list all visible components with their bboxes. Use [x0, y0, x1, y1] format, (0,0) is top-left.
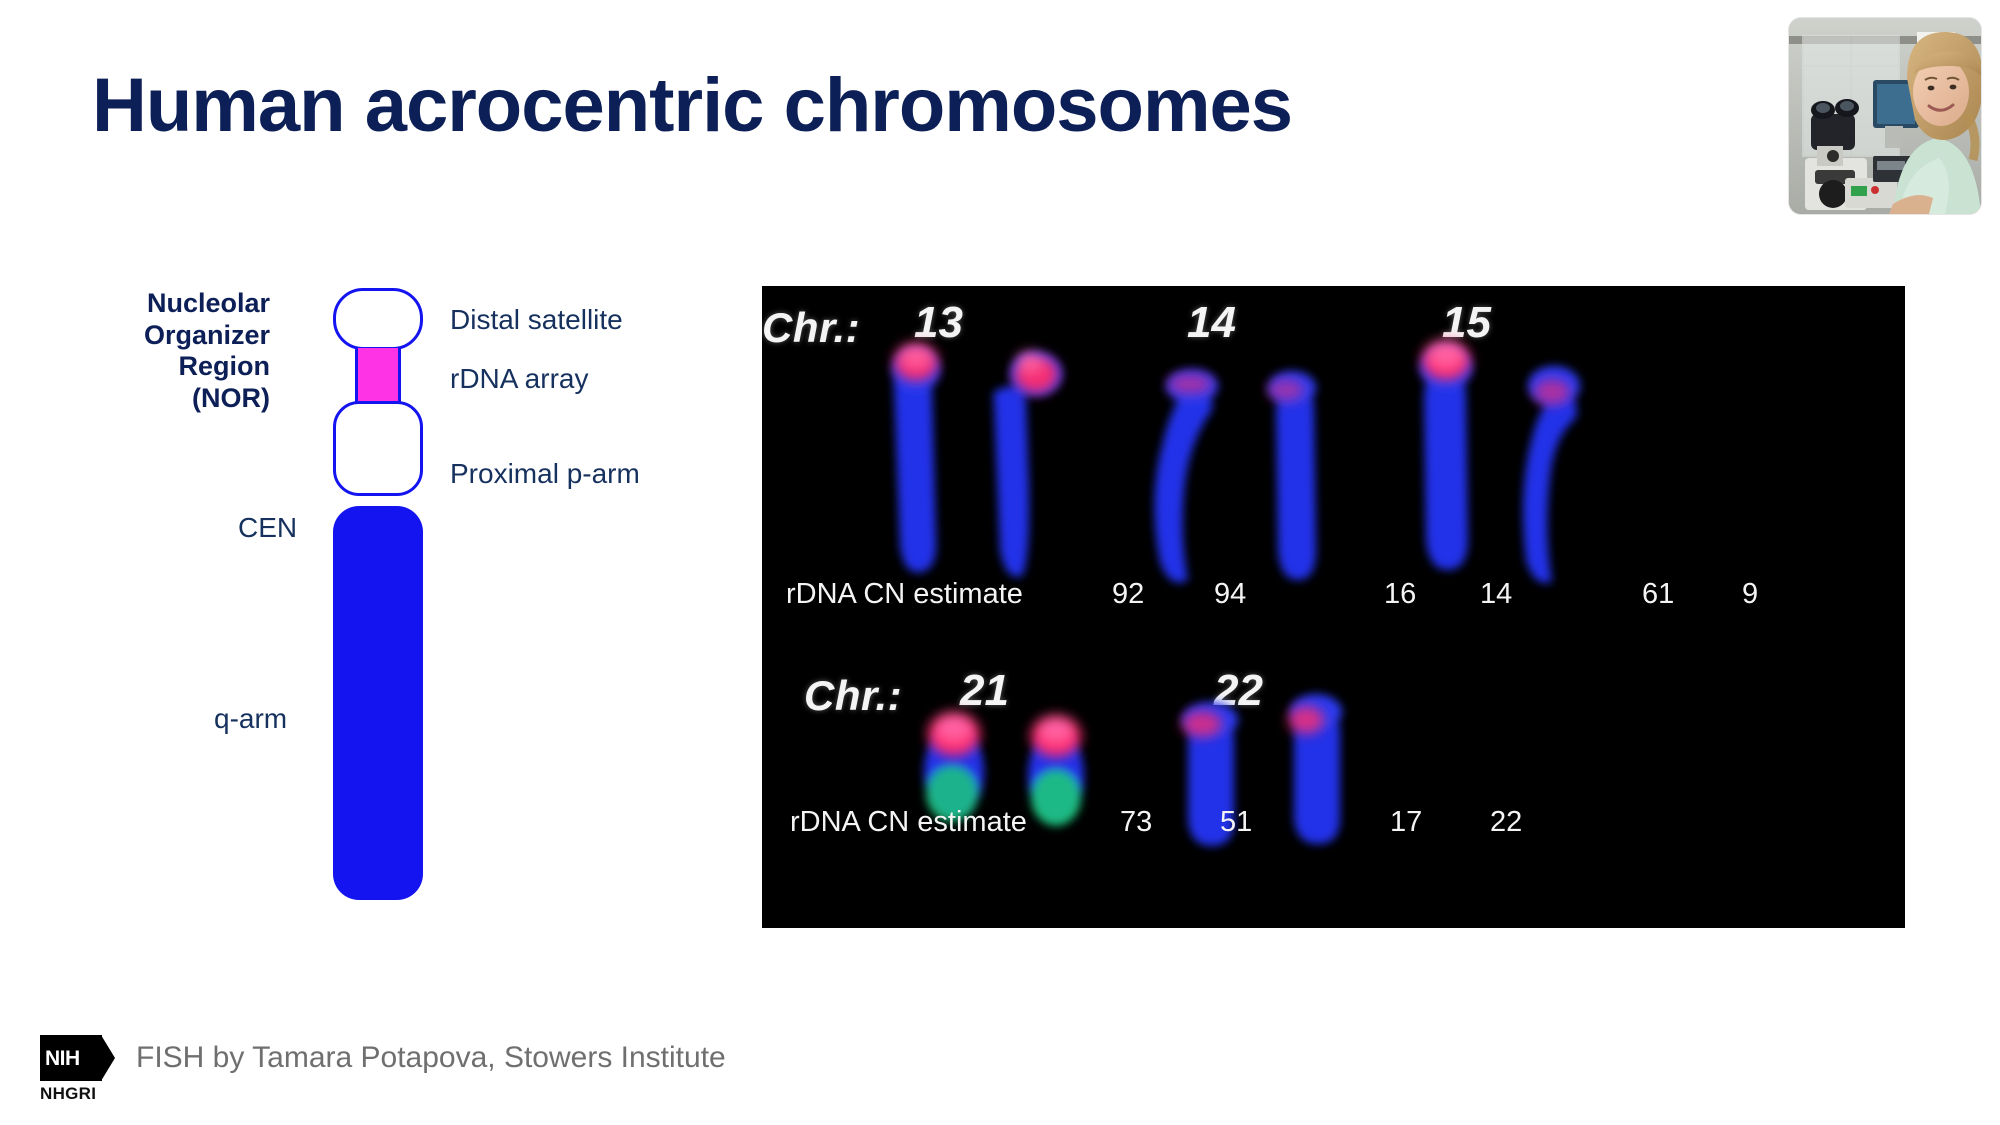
- proximal-p-arm-segment: [333, 401, 423, 496]
- cn-value-22b: 22: [1490, 806, 1522, 839]
- nih-chevron-icon: [101, 1035, 115, 1081]
- cn-value-13a: 92: [1112, 578, 1144, 611]
- nor-line-3: Region: [60, 351, 270, 383]
- rdna-array-label: rDNA array: [450, 363, 588, 395]
- chromosome-14b-image: [1250, 366, 1340, 596]
- chromosome-15b-image: [1504, 352, 1604, 592]
- footer: NIH NHGRI FISH by Tamara Potapova, Stowe…: [40, 1035, 726, 1097]
- chromosome-21b-image: [1014, 700, 1100, 840]
- chr-label-top-row: Chr.:: [762, 304, 860, 352]
- researcher-at-microscope-photo: [1789, 18, 1981, 214]
- chromosome-15a-image: [1402, 334, 1492, 584]
- chromosome-13b-image: [974, 338, 1074, 588]
- nor-line-1: Nucleolar: [60, 288, 270, 320]
- q-arm-segment: [333, 506, 423, 900]
- cn-value-14a: 16: [1384, 578, 1416, 611]
- rdna-cn-estimate-label-bottom: rDNA CN estimate: [790, 806, 1027, 839]
- chromosome-13a-image: [872, 334, 962, 584]
- centromere-label: CEN: [238, 512, 297, 544]
- rdna-array-segment: [355, 348, 401, 403]
- nih-wordmark: NIH: [40, 1035, 102, 1081]
- distal-satellite-label: Distal satellite: [450, 304, 623, 336]
- nor-line-2: Organizer: [60, 320, 270, 352]
- cn-value-21a: 73: [1120, 806, 1152, 839]
- rdna-cn-estimate-label-top: rDNA CN estimate: [786, 578, 1023, 611]
- chromosome-14a-image: [1140, 362, 1240, 592]
- image-credit: FISH by Tamara Potapova, Stowers Institu…: [136, 1035, 726, 1075]
- cn-value-22a: 17: [1390, 806, 1422, 839]
- cn-value-15a: 61: [1642, 578, 1674, 611]
- q-arm-label: q-arm: [214, 703, 287, 735]
- cn-value-13b: 94: [1214, 578, 1246, 611]
- nor-line-4: (NOR): [60, 383, 270, 415]
- nih-logo-text: NIH: [40, 1048, 80, 1069]
- nucleolar-organizer-region-label: Nucleolar Organizer Region (NOR): [60, 288, 270, 414]
- chr-number-14: 14: [1187, 298, 1236, 348]
- slide-root: Human acrocentric chromosomes: [0, 0, 2000, 1125]
- fish-micrograph-panel: Chr.: 13 14 15: [762, 286, 1905, 928]
- chr-label-bottom-row: Chr.:: [804, 672, 902, 720]
- distal-satellite-segment: [333, 288, 423, 350]
- proximal-p-arm-label: Proximal p-arm: [450, 458, 640, 490]
- chromosome-22b-image: [1272, 688, 1358, 853]
- cn-value-21b: 51: [1220, 806, 1252, 839]
- nhgri-logo-text: NHGRI: [40, 1084, 102, 1104]
- page-title: Human acrocentric chromosomes: [92, 62, 1292, 149]
- cn-value-15b: 9: [1742, 578, 1758, 611]
- cn-value-14b: 14: [1480, 578, 1512, 611]
- nih-logo: NIH NHGRI: [40, 1035, 102, 1097]
